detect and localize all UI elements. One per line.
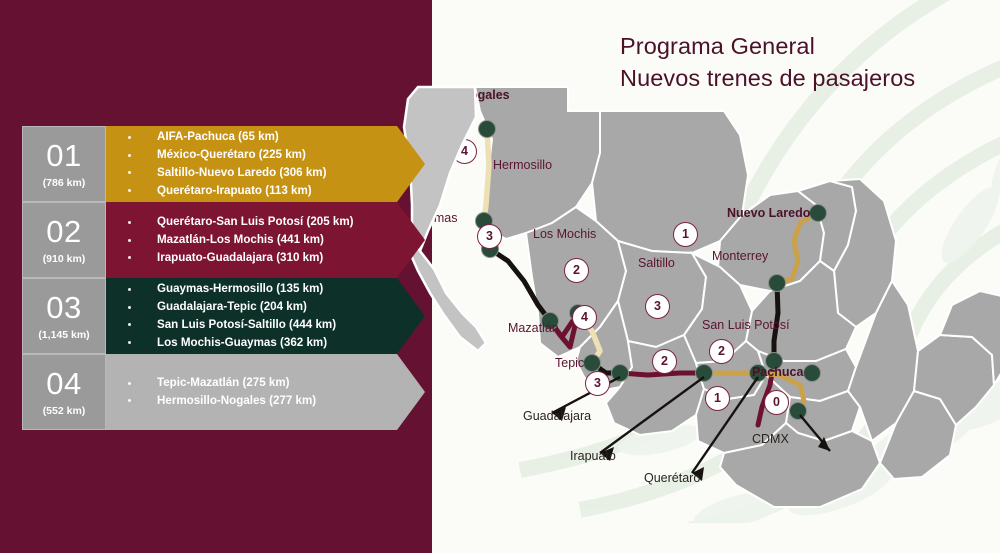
phase-bar-04: Tepic-Mazatlán (275 km)Hermosillo-Nogale…: [106, 354, 397, 430]
badge-3-slp-saltillo[interactable]: 3: [645, 294, 670, 319]
bullet-dot-icon: [128, 171, 131, 174]
node-aifa: [790, 403, 807, 420]
phase-item-label: Guadalajara-Tepic (204 km): [157, 298, 307, 316]
map-landmass: [404, 87, 1000, 507]
bullet-dot-icon: [128, 399, 131, 402]
phase-02-item-2[interactable]: Mazatlán-Los Mochis (441 km): [128, 231, 397, 249]
phase-item-label: Los Mochis-Guaymas (362 km): [157, 334, 327, 352]
phase-01-item-2[interactable]: México-Querétaro (225 km): [128, 146, 397, 164]
bullet-dot-icon: [128, 154, 131, 157]
phase-number-04: 04: [46, 368, 81, 399]
phase-number-box-04: 04(552 km): [22, 354, 106, 430]
phase-01-item-3[interactable]: Saltillo-Nuevo Laredo (306 km): [128, 164, 397, 182]
bullet-dot-icon: [128, 239, 131, 242]
phase-03-item-2[interactable]: Guadalajara-Tepic (204 km): [128, 298, 397, 316]
phase-item-label: Hermosillo-Nogales (277 km): [157, 392, 316, 410]
node-tepic: [584, 355, 601, 372]
infographic-canvas: 43243212310 NogalesHermosilloGuaymasLos …: [0, 0, 1000, 553]
page-title: Programa General Nuevos trenes de pasaje…: [620, 30, 915, 95]
phase-03-item-3[interactable]: San Luis Potosí-Saltillo (444 km): [128, 316, 397, 334]
phase-01-item-4[interactable]: Querétaro-Irapuato (113 km): [128, 182, 397, 200]
phase-row-02[interactable]: 02(910 km)Querétaro-San Luis Potosí (205…: [22, 202, 397, 278]
city-label-san-luis-potosi: San Luis Potosí: [702, 319, 790, 332]
badge-3-guadalajara-tepic[interactable]: 3: [585, 371, 610, 396]
bullet-dot-icon: [128, 341, 131, 344]
badge-2-qro-slp[interactable]: 2: [709, 339, 734, 364]
bullet-dot-icon: [128, 288, 131, 291]
city-label-saltillo: Saltillo: [638, 257, 675, 270]
city-label-pachuca: Pachuca: [752, 366, 803, 379]
node-nogales: [479, 121, 496, 138]
city-label-los-mochis: Los Mochis: [533, 228, 596, 241]
phase-total-km-04: (552 km): [43, 405, 86, 417]
title-line-2: Nuevos trenes de pasajeros: [620, 62, 915, 94]
phase-03-item-1[interactable]: Guaymas-Hermosillo (135 km): [128, 280, 397, 298]
phase-number-03: 03: [46, 292, 81, 323]
city-label-queretaro: Querétaro: [644, 472, 700, 485]
bullet-dot-icon: [128, 323, 131, 326]
bullet-dot-icon: [128, 221, 131, 224]
badge-2-mazatlan-losmochis[interactable]: 2: [564, 258, 589, 283]
badge-1-saltillo-nlaredo[interactable]: 1: [673, 222, 698, 247]
phase-number-02: 02: [46, 216, 81, 247]
phase-item-label: México-Querétaro (225 km): [157, 146, 306, 164]
phase-bar-01: AIFA-Pachuca (65 km)México-Querétaro (22…: [106, 126, 397, 202]
phase-row-01[interactable]: 01(786 km)AIFA-Pachuca (65 km)México-Que…: [22, 126, 397, 202]
phase-total-km-02: (910 km): [43, 253, 86, 265]
phase-02-item-3[interactable]: Irapuato-Guadalajara (310 km): [128, 249, 397, 267]
badge-4-nogales-hermosillo[interactable]: 4: [452, 139, 477, 164]
phase-04-item-2[interactable]: Hermosillo-Nogales (277 km): [128, 392, 397, 410]
route-hermosillo-nogales: [484, 130, 489, 221]
node-nuevolaredo: [810, 205, 827, 222]
bullet-dot-icon: [128, 189, 131, 192]
phase-item-label: Saltillo-Nuevo Laredo (306 km): [157, 164, 326, 182]
phase-row-04[interactable]: 04(552 km)Tepic-Mazatlán (275 km)Hermosi…: [22, 354, 397, 430]
phase-item-label: Mazatlán-Los Mochis (441 km): [157, 231, 324, 249]
city-label-cdmx: CDMX: [752, 433, 789, 446]
bullet-dot-icon: [128, 382, 131, 385]
badge-1-qro-irapuato[interactable]: 1: [705, 386, 730, 411]
phase-item-label: Guaymas-Hermosillo (135 km): [157, 280, 323, 298]
node-saltillo: [769, 275, 786, 292]
phase-bar-02: Querétaro-San Luis Potosí (205 km)Mazatl…: [106, 202, 397, 278]
phase-number-box-03: 03(1,145 km): [22, 278, 106, 354]
phase-02-item-1[interactable]: Querétaro-San Luis Potosí (205 km): [128, 213, 397, 231]
badge-4-tepic-mazatlan[interactable]: 4: [572, 305, 597, 330]
phase-item-label: San Luis Potosí-Saltillo (444 km): [157, 316, 336, 334]
phase-number-01: 01: [46, 140, 81, 171]
city-label-mazatlan: Mazatlán: [508, 322, 559, 335]
bullet-dot-icon: [128, 306, 131, 309]
state-chihuahua: [592, 111, 748, 253]
phase-number-box-01: 01(786 km): [22, 126, 106, 202]
city-label-nuevo-laredo: Nuevo Laredo: [727, 207, 810, 220]
phase-item-label: Tepic-Mazatlán (275 km): [157, 374, 290, 392]
city-label-hermosillo: Hermosillo: [493, 159, 552, 172]
phase-item-label: Querétaro-San Luis Potosí (205 km): [157, 213, 354, 231]
badge-3-guaymas-losmochis[interactable]: 3: [477, 224, 502, 249]
phase-number-box-02: 02(910 km): [22, 202, 106, 278]
badge-0-aifa-pachuca[interactable]: 0: [764, 390, 789, 415]
phase-03-item-4[interactable]: Los Mochis-Guaymas (362 km): [128, 334, 397, 352]
city-label-monterrey: Monterrey: [712, 250, 768, 263]
city-label-tepic: Tepic: [555, 357, 584, 370]
city-label-guadalajara: Guadalajara: [523, 410, 591, 423]
phase-row-03[interactable]: 03(1,145 km)Guaymas-Hermosillo (135 km)G…: [22, 278, 397, 354]
phase-04-item-1[interactable]: Tepic-Mazatlán (275 km): [128, 374, 397, 392]
badge-2-irapuato-gdl[interactable]: 2: [652, 349, 677, 374]
title-line-1: Programa General: [620, 30, 915, 62]
phase-item-label: AIFA-Pachuca (65 km): [157, 128, 279, 146]
city-label-irapuato: Irapuato: [570, 450, 616, 463]
phase-bar-03: Guaymas-Hermosillo (135 km)Guadalajara-T…: [106, 278, 397, 354]
node-pachuca: [804, 365, 821, 382]
bullet-dot-icon: [128, 256, 131, 259]
phase-item-label: Irapuato-Guadalajara (310 km): [157, 249, 323, 267]
phase-total-km-01: (786 km): [43, 177, 86, 189]
node-irapuato: [696, 365, 713, 382]
phase-total-km-03: (1,145 km): [38, 329, 89, 341]
phase-item-label: Querétaro-Irapuato (113 km): [157, 182, 312, 200]
bullet-dot-icon: [128, 136, 131, 139]
city-label-nogales: Nogales: [461, 89, 510, 102]
phase-01-item-1[interactable]: AIFA-Pachuca (65 km): [128, 128, 397, 146]
